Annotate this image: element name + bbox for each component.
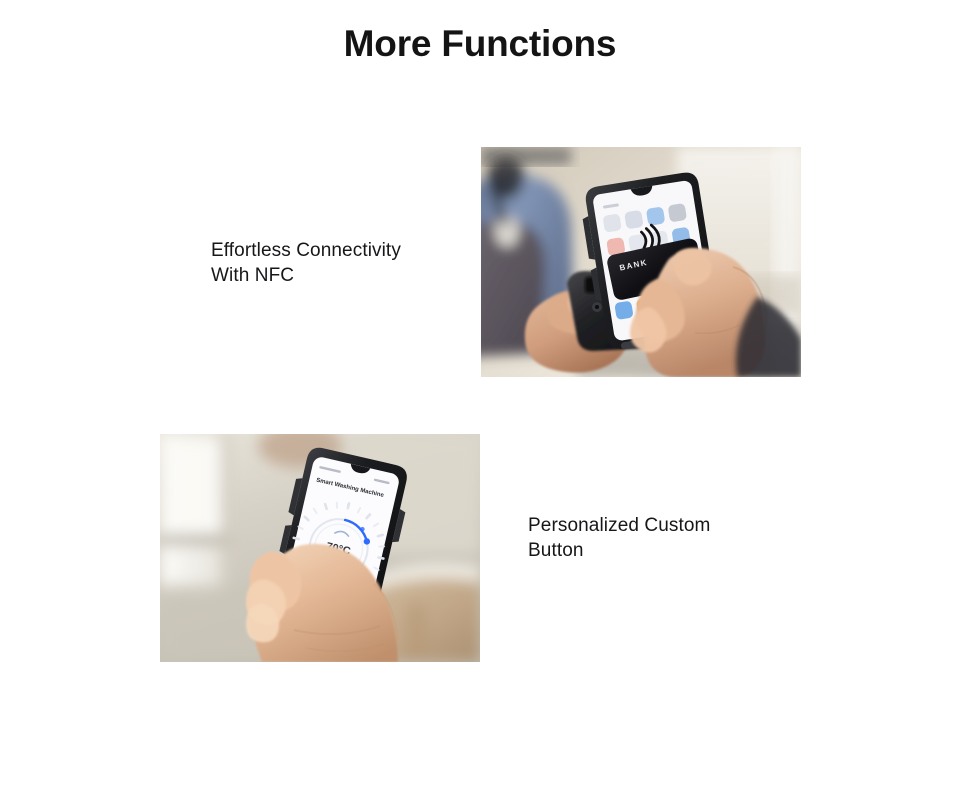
feature-caption-custom-button: Personalized Custom Button [528,513,788,563]
smart-app-scene: Smart Washing Machine [160,434,480,662]
nfc-payment-scene: BANK [481,147,801,377]
feature-image-custom-button: Smart Washing Machine [160,434,480,662]
feature-caption-nfc: Effortless Connectivity With NFC [211,238,471,288]
feature-image-nfc: BANK [481,147,801,377]
page-title: More Functions [0,22,960,66]
